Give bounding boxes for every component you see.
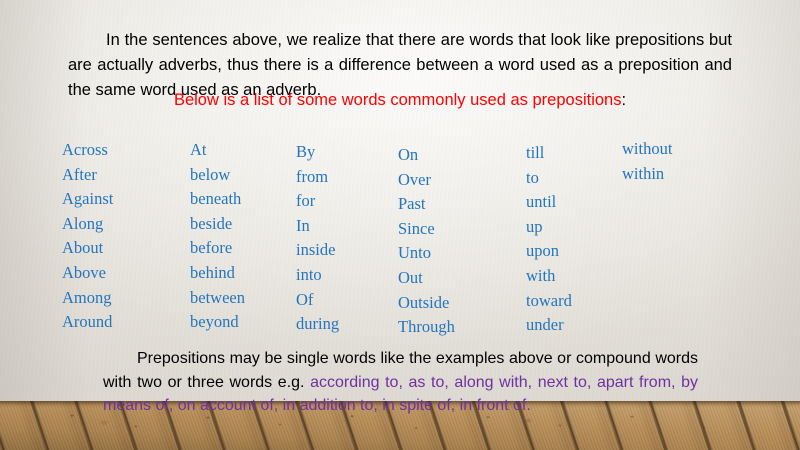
word-item: Around bbox=[62, 310, 113, 335]
word-item: for bbox=[296, 189, 339, 214]
word-item: beyond bbox=[190, 310, 245, 335]
word-item: Across bbox=[62, 138, 113, 163]
word-item: Over bbox=[398, 168, 455, 193]
word-item: below bbox=[190, 163, 245, 188]
word-column-4: On Over Past Since Unto Out Outside Thro… bbox=[398, 143, 455, 340]
word-column-6: without within bbox=[622, 137, 672, 186]
word-item: Unto bbox=[398, 241, 455, 266]
word-column-3: By from for In inside into Of during bbox=[296, 140, 339, 337]
word-item: Out bbox=[398, 266, 455, 291]
word-item: At bbox=[190, 138, 245, 163]
word-column-2: At below beneath beside before behind be… bbox=[190, 138, 245, 335]
word-item: without bbox=[622, 137, 672, 162]
slide-canvas: In the sentences above, we realize that … bbox=[0, 0, 800, 450]
word-item: till bbox=[526, 141, 572, 166]
word-item: until bbox=[526, 190, 572, 215]
word-item: during bbox=[296, 312, 339, 337]
footer-paragraph: Prepositions may be single words like th… bbox=[103, 347, 698, 418]
word-item: beside bbox=[190, 212, 245, 237]
word-item: Against bbox=[62, 187, 113, 212]
preposition-word-grid: Across After Against Along About Above A… bbox=[0, 132, 800, 327]
word-item: to bbox=[526, 166, 572, 191]
word-item: behind bbox=[190, 261, 245, 286]
word-item: from bbox=[296, 165, 339, 190]
word-item: toward bbox=[526, 289, 572, 314]
word-item: Outside bbox=[398, 291, 455, 316]
word-item: Above bbox=[62, 261, 113, 286]
word-item: On bbox=[398, 143, 455, 168]
word-item: After bbox=[62, 163, 113, 188]
word-item: By bbox=[296, 140, 339, 165]
word-item: upon bbox=[526, 239, 572, 264]
word-item: Through bbox=[398, 315, 455, 340]
word-item: under bbox=[526, 313, 572, 338]
word-item: within bbox=[622, 162, 672, 187]
word-item: inside bbox=[296, 238, 339, 263]
word-item: Of bbox=[296, 288, 339, 313]
word-item: Since bbox=[398, 217, 455, 242]
word-item: between bbox=[190, 286, 245, 311]
word-item: Along bbox=[62, 212, 113, 237]
word-item: Among bbox=[62, 286, 113, 311]
word-column-1: Across After Against Along About Above A… bbox=[62, 138, 113, 335]
word-item: into bbox=[296, 263, 339, 288]
word-item: beneath bbox=[190, 187, 245, 212]
word-column-5: till to until up upon with toward under bbox=[526, 141, 572, 338]
word-item: About bbox=[62, 236, 113, 261]
section-heading-red-text: Below is a list of some words commonly u… bbox=[174, 91, 622, 109]
word-item: with bbox=[526, 264, 572, 289]
section-heading-colon: : bbox=[621, 91, 626, 109]
word-item: In bbox=[296, 214, 339, 239]
word-item: Past bbox=[398, 192, 455, 217]
word-item: before bbox=[190, 236, 245, 261]
section-heading: Below is a list of some words commonly u… bbox=[68, 88, 732, 112]
word-item: up bbox=[526, 215, 572, 240]
